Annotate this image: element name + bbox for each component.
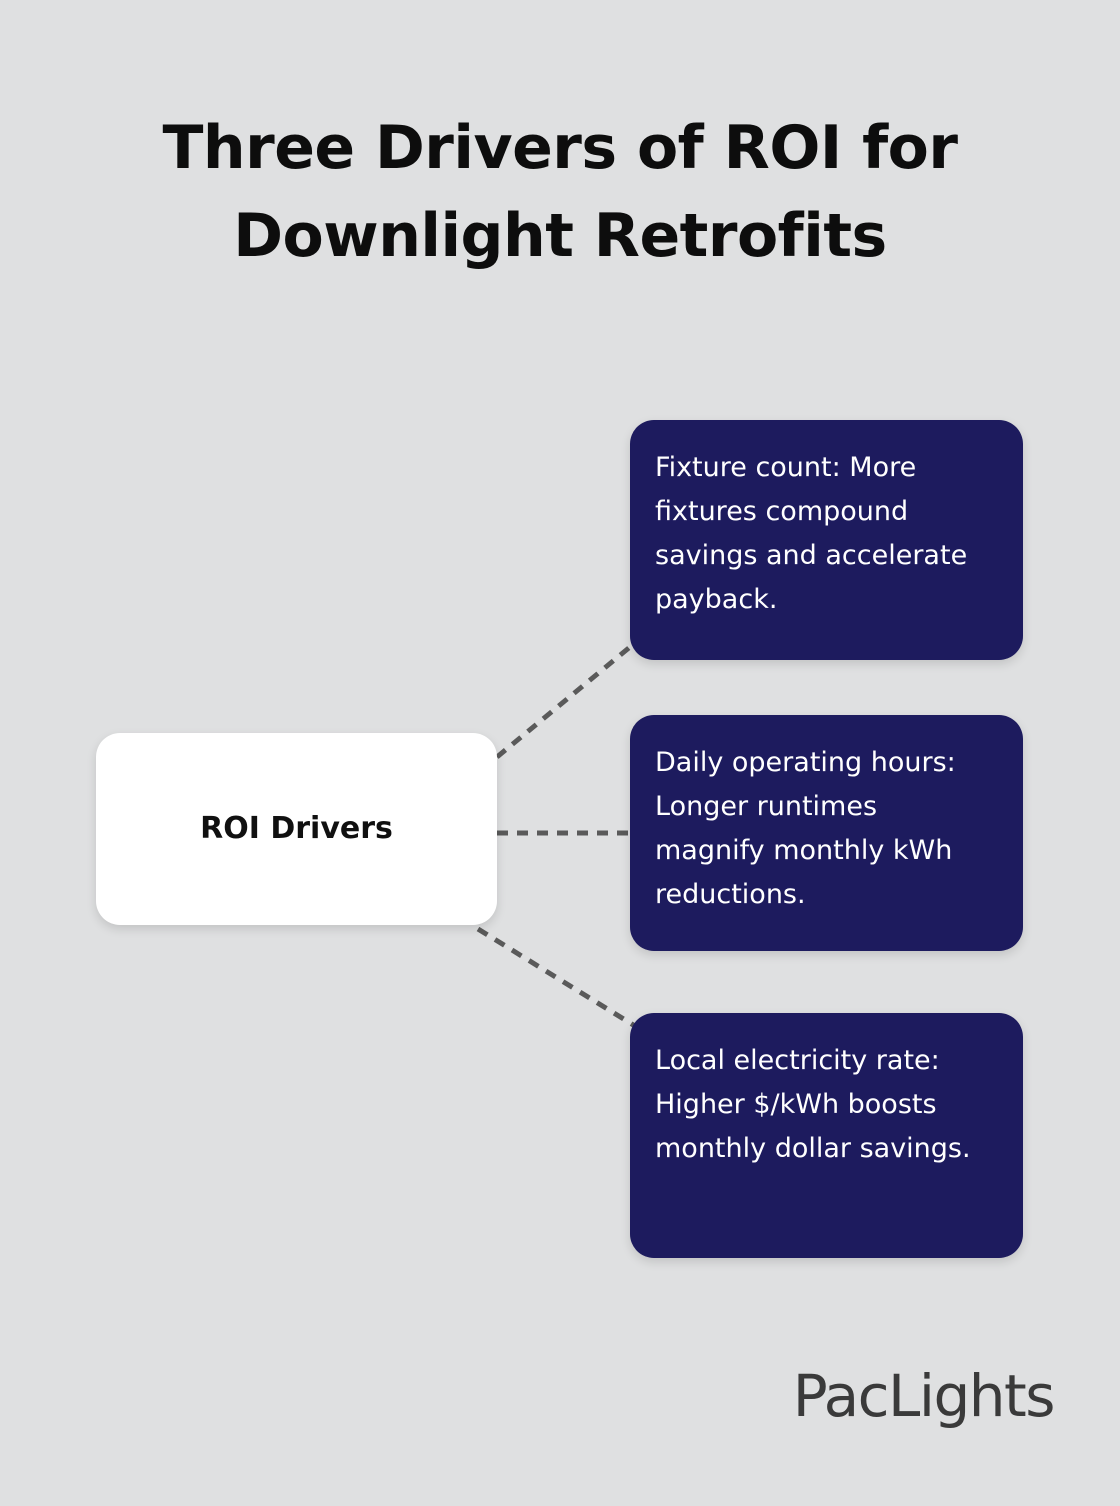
driver-card-text: Daily operating hours: Longer runtimes m… bbox=[655, 741, 993, 917]
infographic-canvas: Three Drivers of ROI for Downlight Retro… bbox=[0, 0, 1120, 1506]
driver-card-electricity-rate: Local electricity rate: Higher $/kWh boo… bbox=[630, 1013, 1023, 1258]
brand-logo: PacLights bbox=[793, 1364, 1054, 1428]
center-node-label: ROI Drivers bbox=[200, 810, 393, 848]
driver-card-text: Local electricity rate: Higher $/kWh boo… bbox=[655, 1039, 993, 1171]
center-node: ROI Drivers bbox=[96, 733, 497, 925]
driver-card-text: Fixture count: More fixtures compound sa… bbox=[655, 446, 993, 622]
driver-card-fixture-count: Fixture count: More fixtures compound sa… bbox=[630, 420, 1023, 660]
connector-line-top bbox=[497, 642, 636, 757]
page-title: Three Drivers of ROI for Downlight Retro… bbox=[110, 104, 1010, 280]
driver-card-operating-hours: Daily operating hours: Longer runtimes m… bbox=[630, 715, 1023, 951]
connector-line-bottom bbox=[478, 929, 643, 1031]
